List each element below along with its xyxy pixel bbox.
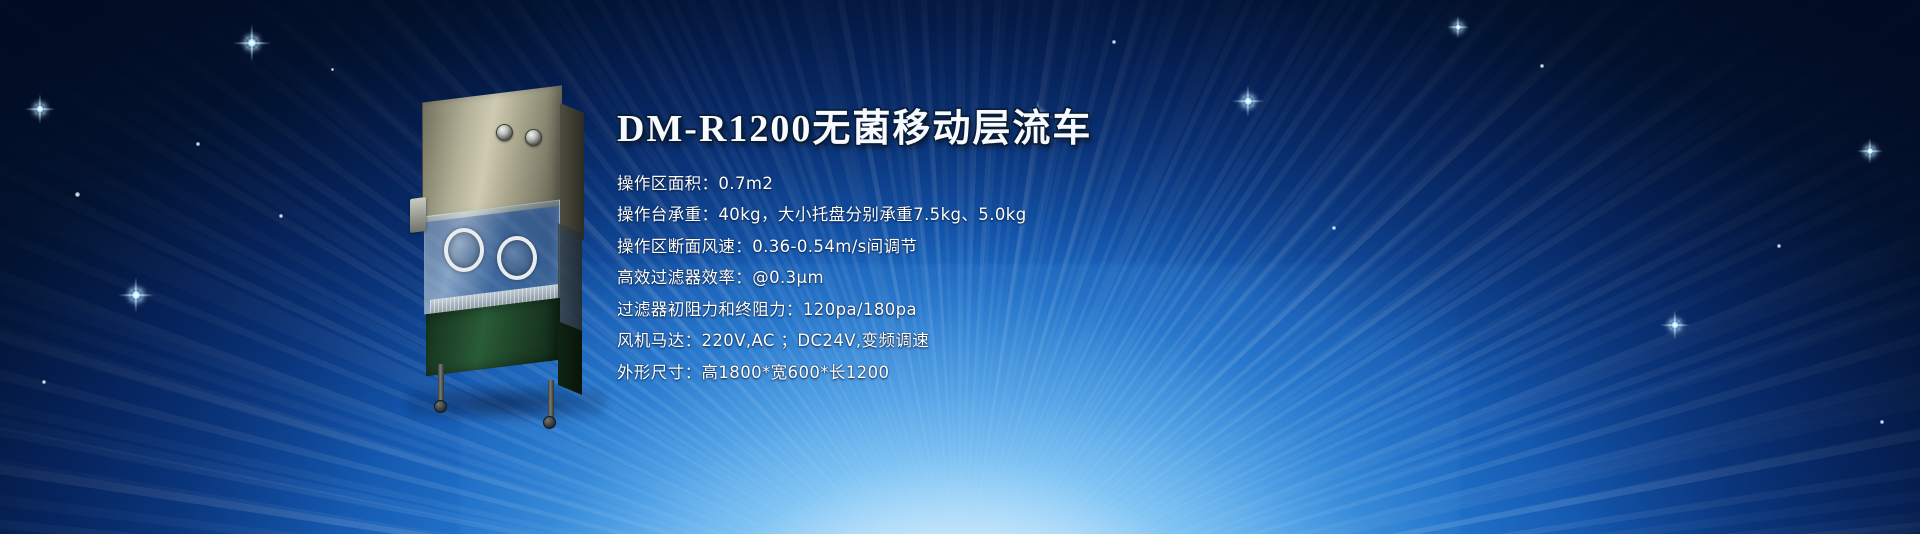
banner-copy: DM-R1200无菌移动层流车 操作区面积：0.7m2 操作台承重：40kg，大… xyxy=(617,108,1117,396)
spec-item: 外形尺寸：高1800*宽600*长1200 xyxy=(617,365,1117,382)
sparkle-dot-icon xyxy=(75,192,80,197)
spec-item: 风机马达：220V,AC ；DC24V,变频调速 xyxy=(617,333,1117,350)
product-glass-chamber-side xyxy=(558,223,582,333)
sparkle-dot-icon xyxy=(331,68,334,71)
product-glove-port-icon xyxy=(497,236,537,280)
product-upper-cabinet-side xyxy=(560,103,584,241)
sparkle-dot-icon xyxy=(196,142,200,146)
sparkle-dot-icon xyxy=(1880,420,1884,424)
product-gauge-icon xyxy=(496,124,513,141)
product-leg xyxy=(438,364,444,404)
sparkle-dot-icon xyxy=(1777,244,1781,248)
product-caster-wheel xyxy=(434,400,447,413)
product-base-cabinet-side xyxy=(558,321,582,395)
spec-item: 高效过滤器效率：@0.3μm xyxy=(617,270,1117,287)
banner-stage: DM-R1200无菌移动层流车 操作区面积：0.7m2 操作台承重：40kg，大… xyxy=(0,0,1920,534)
spec-list: 操作区面积：0.7m2 操作台承重：40kg，大小托盘分别承重7.5kg、5.0… xyxy=(617,176,1117,382)
spec-item: 操作区面积：0.7m2 xyxy=(617,176,1117,193)
sparkle-dot-icon xyxy=(279,214,283,218)
product-image xyxy=(400,80,620,410)
product-side-handle xyxy=(410,197,426,233)
sparkle-dot-icon xyxy=(1112,40,1116,44)
product-caster-wheel xyxy=(543,416,556,429)
product-gauge-icon xyxy=(525,129,542,146)
product-title: DM-R1200无菌移动层流车 xyxy=(617,108,1117,152)
product-glove-port-icon xyxy=(444,228,484,272)
spec-item: 过滤器初阻力和终阻力：120pa/180pa xyxy=(617,302,1117,319)
sparkle-dot-icon xyxy=(42,380,46,384)
spec-item: 操作台承重：40kg，大小托盘分别承重7.5kg、5.0kg xyxy=(617,207,1117,224)
sparkle-dot-icon xyxy=(1540,64,1544,68)
spec-item: 操作区断面风速：0.36-0.54m/s间调节 xyxy=(617,239,1117,256)
sparkle-dot-icon xyxy=(1332,226,1336,230)
product-leg xyxy=(548,380,554,420)
